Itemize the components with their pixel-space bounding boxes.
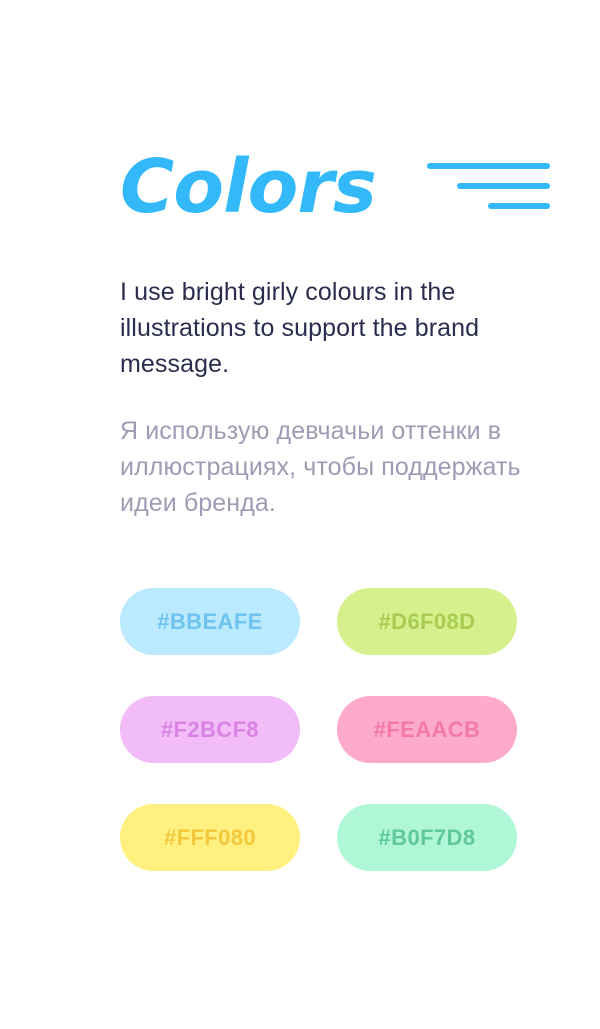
color-swatch-label: #BBEAFE [157, 609, 263, 635]
color-swatch-label: #B0F7D8 [379, 825, 476, 851]
description-block: I use bright girly colours in the illust… [120, 274, 540, 521]
color-swatch-label: #D6F08D [379, 609, 476, 635]
description-english: I use bright girly colours in the illust… [120, 274, 540, 382]
color-swatch[interactable]: #F2BCF8 [120, 696, 300, 763]
color-swatch[interactable]: #FEAACB [337, 696, 517, 763]
color-swatch-label: #FFF080 [164, 825, 256, 851]
color-swatch[interactable]: #D6F08D [337, 588, 517, 655]
header: Colors [120, 141, 550, 233]
page-title: Colors [120, 141, 376, 233]
color-swatch[interactable]: #BBEAFE [120, 588, 300, 655]
color-swatch[interactable]: #FFF080 [120, 804, 300, 871]
colors-brand-slide: Colors I use bright girly colours in the… [0, 0, 600, 1029]
title-rule-decoration [410, 163, 550, 209]
color-palette-grid: #BBEAFE #D6F08D #F2BCF8 #FEAACB #FFF080 … [120, 588, 517, 871]
rule-short-icon [488, 203, 550, 209]
rule-long-icon [427, 163, 550, 169]
color-swatch[interactable]: #B0F7D8 [337, 804, 517, 871]
color-swatch-label: #FEAACB [374, 717, 481, 743]
description-russian: Я использую девчачьи оттенки в иллюстрац… [120, 413, 540, 521]
color-swatch-label: #F2BCF8 [161, 717, 259, 743]
rule-medium-icon [457, 183, 550, 189]
